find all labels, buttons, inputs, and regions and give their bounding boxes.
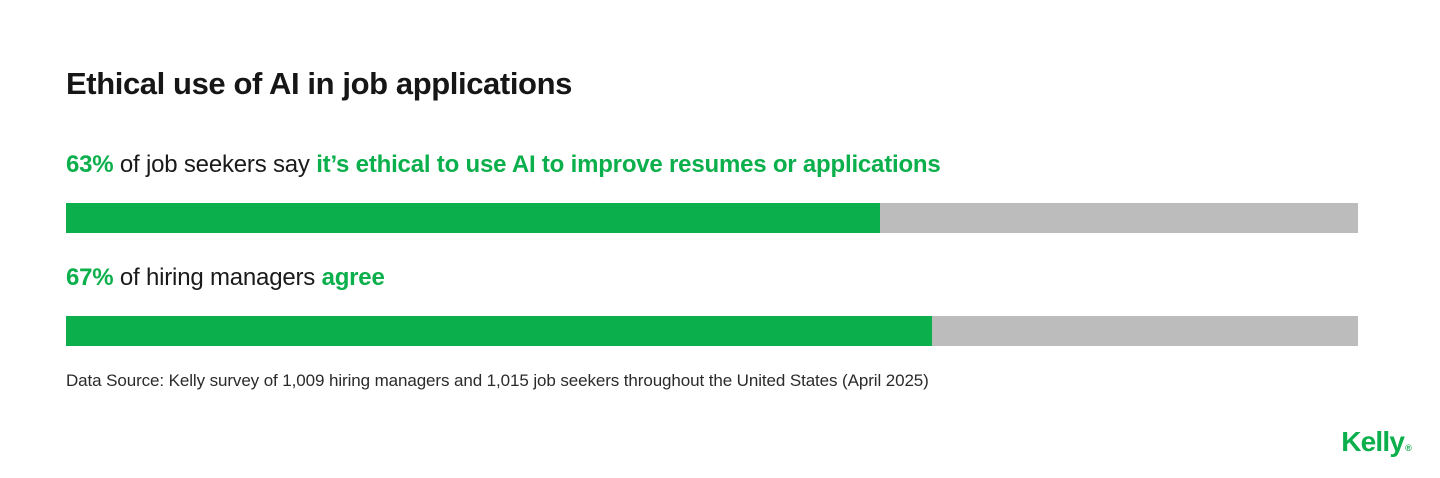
stat-line-job-seekers: 63% of job seekers say it’s ethical to u… [66, 151, 941, 179]
bar-track-hiring-managers [66, 316, 1358, 346]
registered-trademark-icon: ® [1405, 443, 1411, 453]
stat-middle-text-job-seekers: of job seekers say [113, 151, 316, 178]
bar-track-job-seekers [66, 203, 1358, 233]
stat-percent-job-seekers: 63% [66, 151, 113, 178]
infographic-canvas: Ethical use of AI in job applications 63… [0, 0, 1440, 478]
kelly-logo: Kelly® [1341, 426, 1410, 458]
data-source-note: Data Source: Kelly survey of 1,009 hirin… [66, 371, 929, 391]
stat-line-hiring-managers: 67% of hiring managers agree [66, 264, 385, 292]
stat-middle-text-hiring-managers: of hiring managers [113, 264, 321, 291]
stat-emphasis-hiring-managers: agree [322, 264, 385, 291]
page-title: Ethical use of AI in job applications [66, 66, 572, 102]
kelly-logo-text: Kelly [1341, 426, 1404, 457]
stat-emphasis-job-seekers: it’s ethical to use AI to improve resume… [316, 151, 940, 178]
stat-percent-hiring-managers: 67% [66, 264, 113, 291]
bar-fill-job-seekers [66, 203, 880, 233]
bar-fill-hiring-managers [66, 316, 932, 346]
